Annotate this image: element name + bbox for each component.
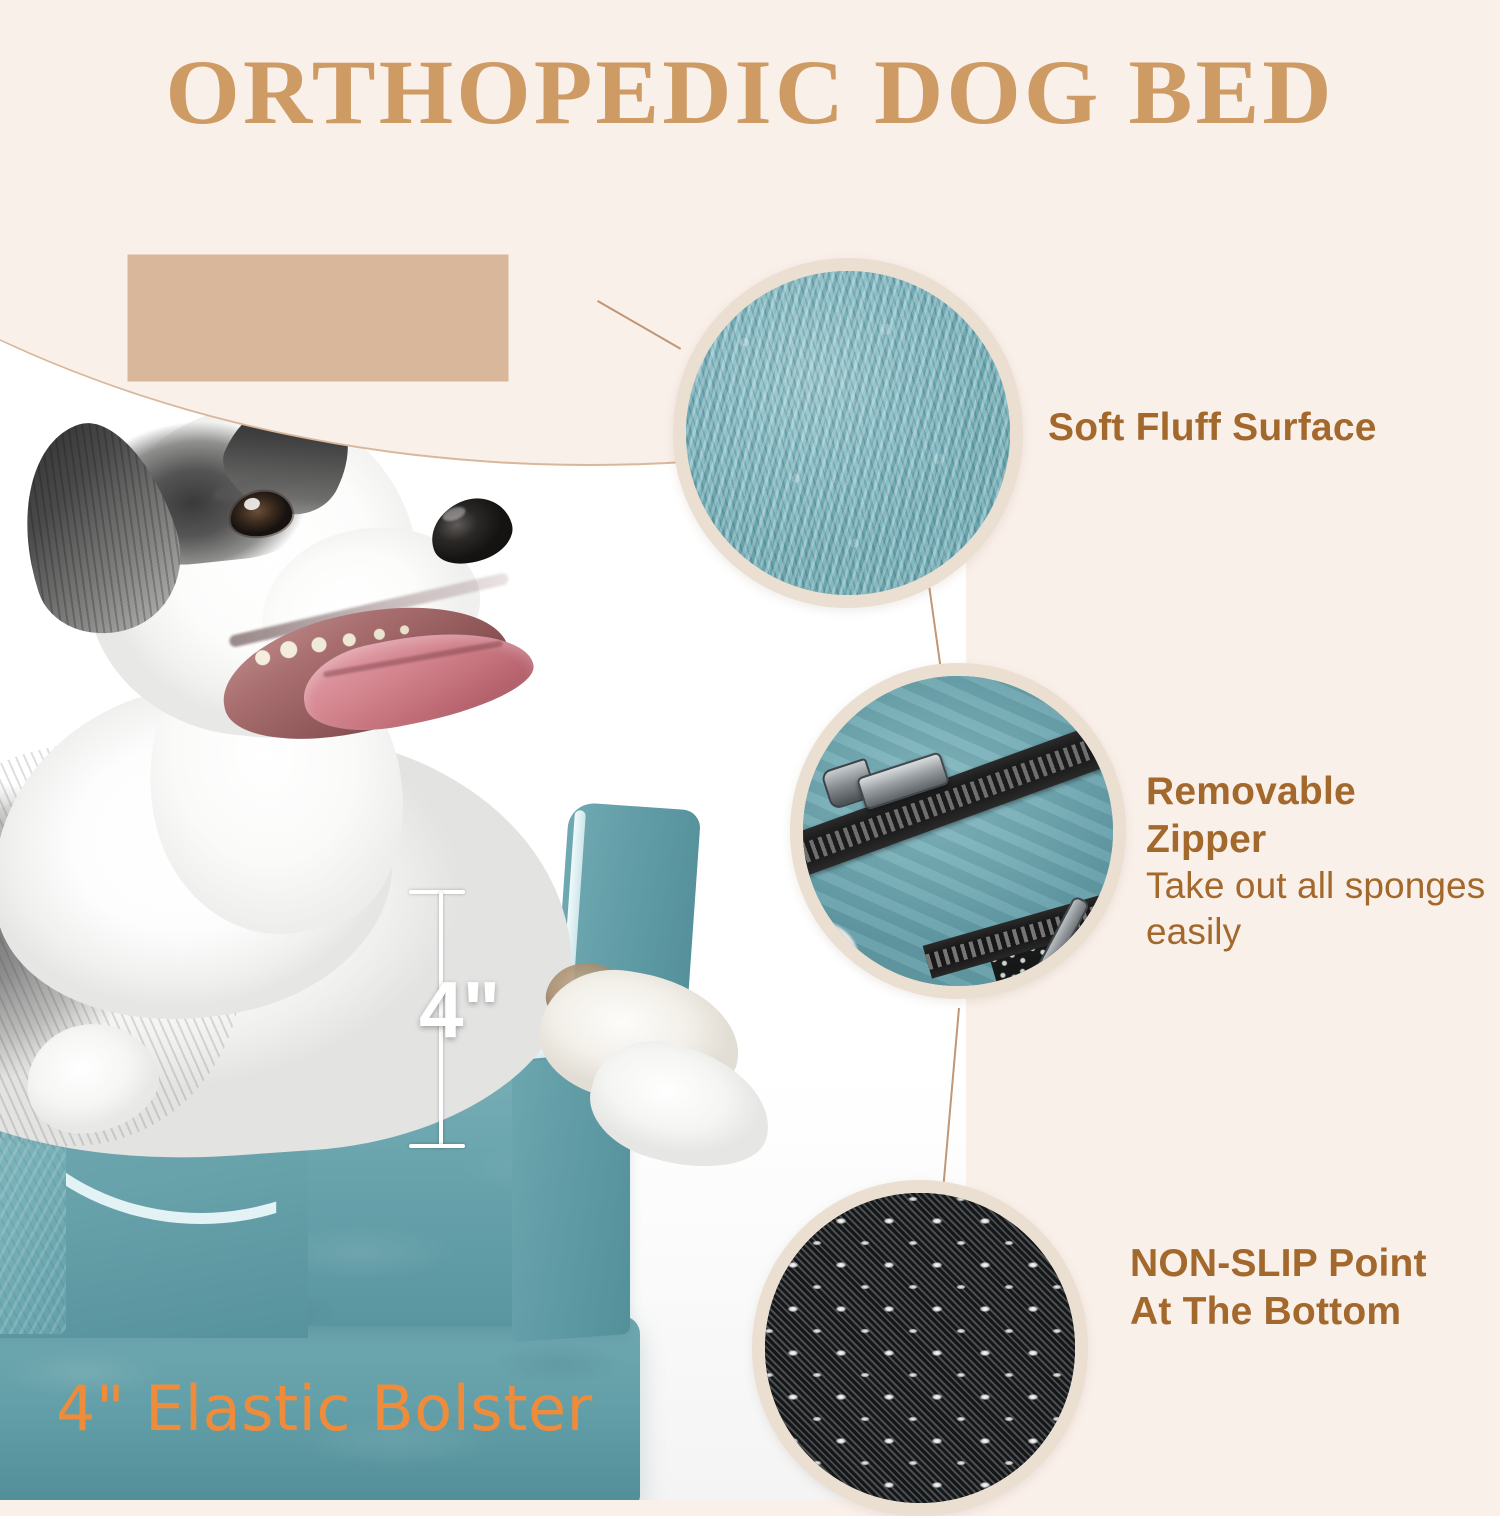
- bolster-caption: 4" Elastic Bolster: [56, 1372, 593, 1445]
- dimension-value-label: 4": [419, 970, 569, 1050]
- zipper-scene-swatch: [799, 672, 1117, 990]
- feature-label-non-slip: NON-SLIP Point At The Bottom: [1130, 1240, 1470, 1335]
- feature-label-removable-zipper: Removable Zipper Take out all sponges ea…: [1146, 768, 1486, 955]
- feature-heading-line1: NON-SLIP Point: [1130, 1240, 1470, 1288]
- dimension-cap-bottom: [409, 1144, 465, 1148]
- fluff-texture-swatch: [686, 271, 1010, 595]
- dog-border-collie: [0, 388, 720, 1268]
- silicone-dots-row-b: [765, 1193, 1075, 1503]
- infographic-canvas: ORTHOPEDIC DOG BED: [0, 0, 1500, 1500]
- dimension-marker-4in: 4": [425, 884, 555, 1156]
- dimension-cap-top: [409, 890, 465, 894]
- callout-circle-non-slip[interactable]: [752, 1180, 1088, 1516]
- feature-heading: Soft Fluff Surface: [1048, 404, 1468, 452]
- page-title: ORTHOPEDIC DOG BED: [0, 46, 1500, 138]
- callout-circle-removable-zipper[interactable]: [790, 663, 1126, 999]
- feature-subtext: Take out all sponges easily: [1146, 863, 1486, 955]
- feature-label-soft-fluff: Soft Fluff Surface: [1048, 404, 1468, 452]
- callout-circle-soft-fluff[interactable]: [673, 258, 1023, 608]
- feature-heading: Removable Zipper: [1146, 768, 1486, 863]
- feature-heading-line2: At The Bottom: [1130, 1288, 1470, 1336]
- nonslip-texture-swatch: [765, 1193, 1075, 1503]
